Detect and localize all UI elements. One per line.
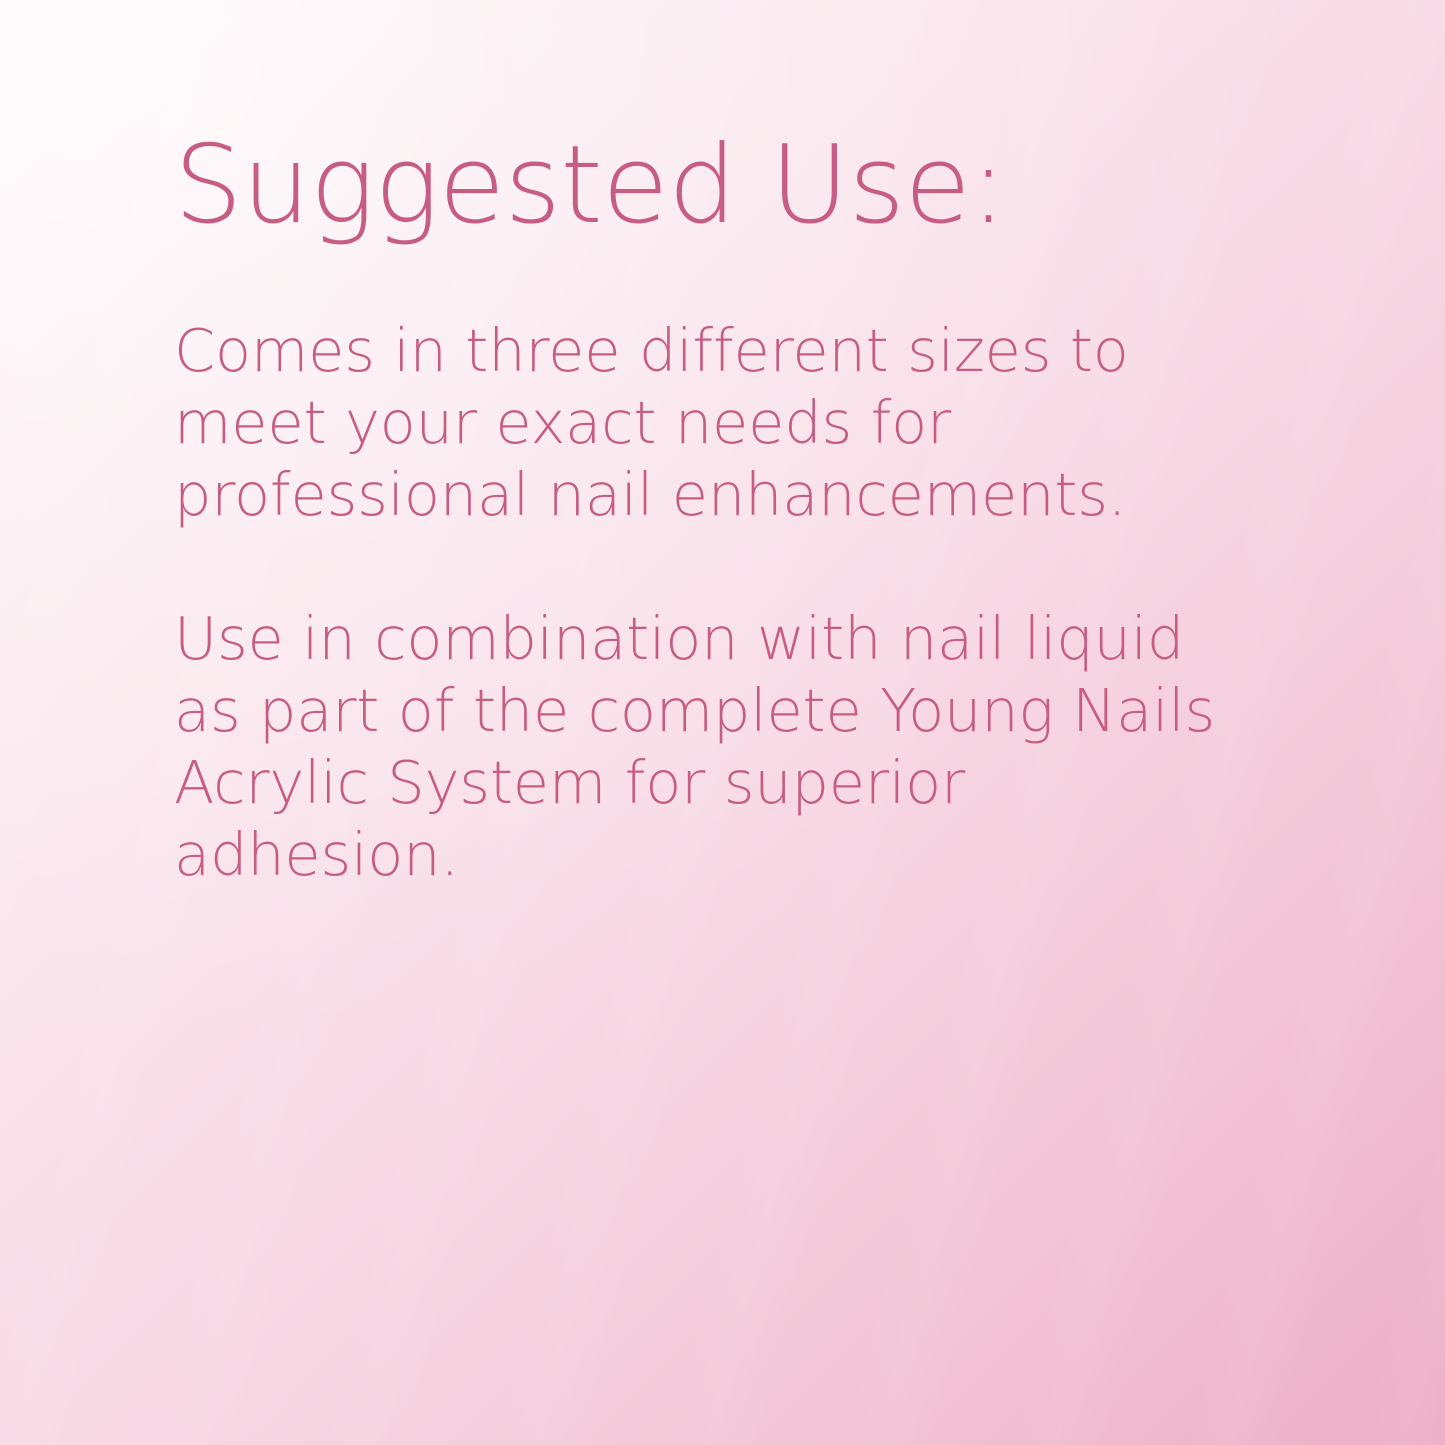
paragraph-sizes: Comes in three different sizes to meet y… xyxy=(174,315,1222,531)
page-title: Suggested Use: xyxy=(174,0,1222,247)
paragraph-usage: Use in combination with nail liquid as p… xyxy=(174,603,1222,891)
content-column: Suggested Use: Comes in three different … xyxy=(174,0,1222,891)
body-copy: Comes in three different sizes to meet y… xyxy=(174,315,1222,891)
suggested-use-card: Suggested Use: Comes in three different … xyxy=(0,0,1445,1445)
